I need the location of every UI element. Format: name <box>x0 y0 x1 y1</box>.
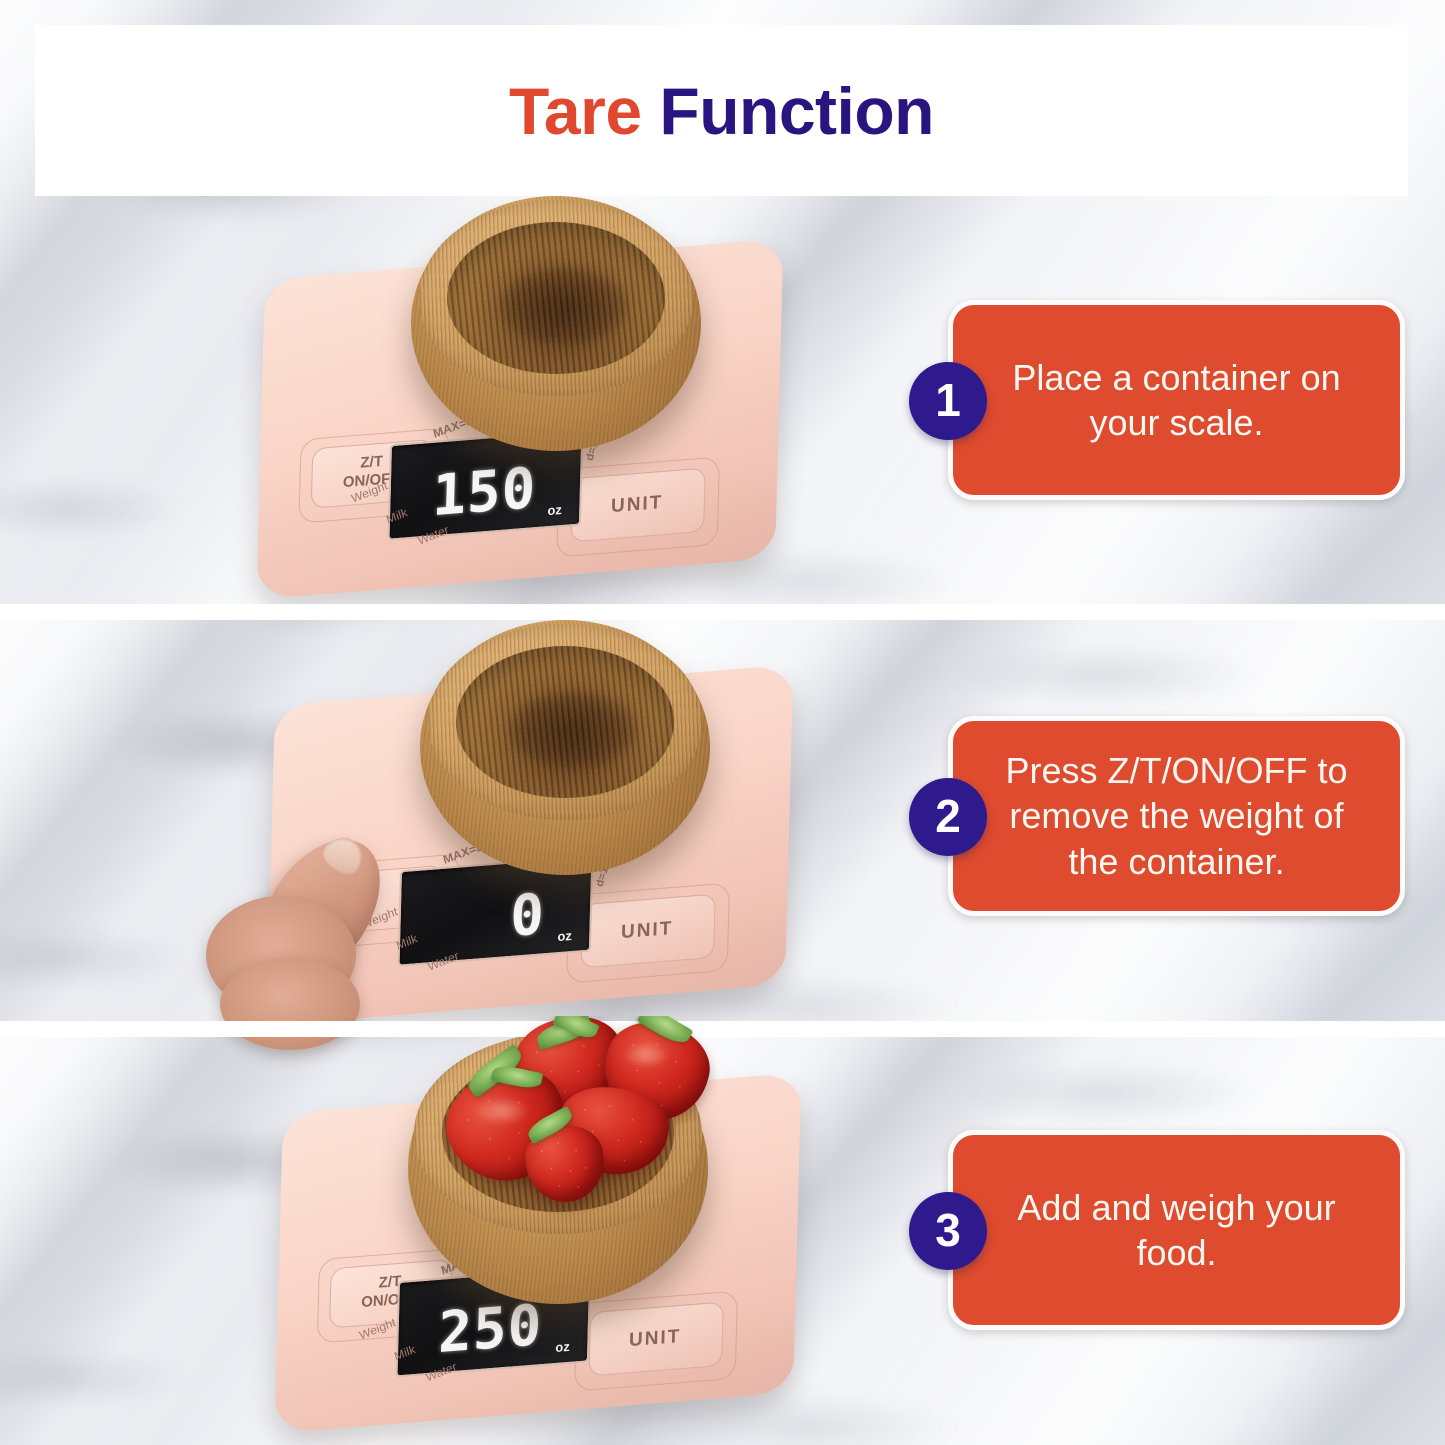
step-badge-1: 1 <box>909 362 987 440</box>
step-number-3: 3 <box>935 1207 961 1253</box>
title-word-function: Function <box>659 74 934 148</box>
lcd-unit: oz <box>555 1340 570 1354</box>
step-text-3: Add and weigh your food. <box>987 1185 1366 1276</box>
step-text-1: Place a container on your scale. <box>987 355 1366 446</box>
step-badge-3: 3 <box>909 1192 987 1270</box>
step-callout-2: Press Z/T/ON/OFF to remove the weight of… <box>948 716 1405 916</box>
lcd-reading: 150 <box>432 461 537 525</box>
bowl-grain <box>499 266 629 346</box>
step-badge-2: 2 <box>909 778 987 856</box>
step-number-1: 1 <box>935 377 961 423</box>
wooden-bowl-step-1 <box>411 196 701 451</box>
bowl-interior <box>447 222 665 374</box>
page-title: Tare Function <box>509 78 934 144</box>
infographic-canvas: Z/T ON/OFF UNIT 150 oz MAX=5000g d=1g We… <box>0 0 1445 1445</box>
step-number-2: 2 <box>935 793 961 839</box>
lcd-unit: oz <box>547 503 562 517</box>
panel-divider-2 <box>0 1021 1445 1037</box>
panel-divider-1 <box>0 604 1445 620</box>
step-text-2: Press Z/T/ON/OFF to remove the weight of… <box>987 748 1366 884</box>
hand-pressing-tare <box>250 834 480 1034</box>
title-banner: Tare Function <box>35 25 1408 196</box>
step-callout-1: Place a container on your scale. <box>948 300 1405 500</box>
bowl-grain <box>508 690 638 770</box>
title-word-tare: Tare <box>509 74 642 148</box>
strawberry-highlight <box>474 1096 530 1126</box>
strawberry-cluster <box>408 1016 718 1226</box>
strawberry-highlight <box>622 1042 670 1068</box>
bowl-interior <box>456 646 674 798</box>
lcd-unit: oz <box>557 929 572 943</box>
step-callout-3: Add and weigh your food. <box>948 1130 1405 1330</box>
lcd-reading: 250 <box>438 1298 543 1362</box>
lcd-reading: 0 <box>509 887 545 946</box>
